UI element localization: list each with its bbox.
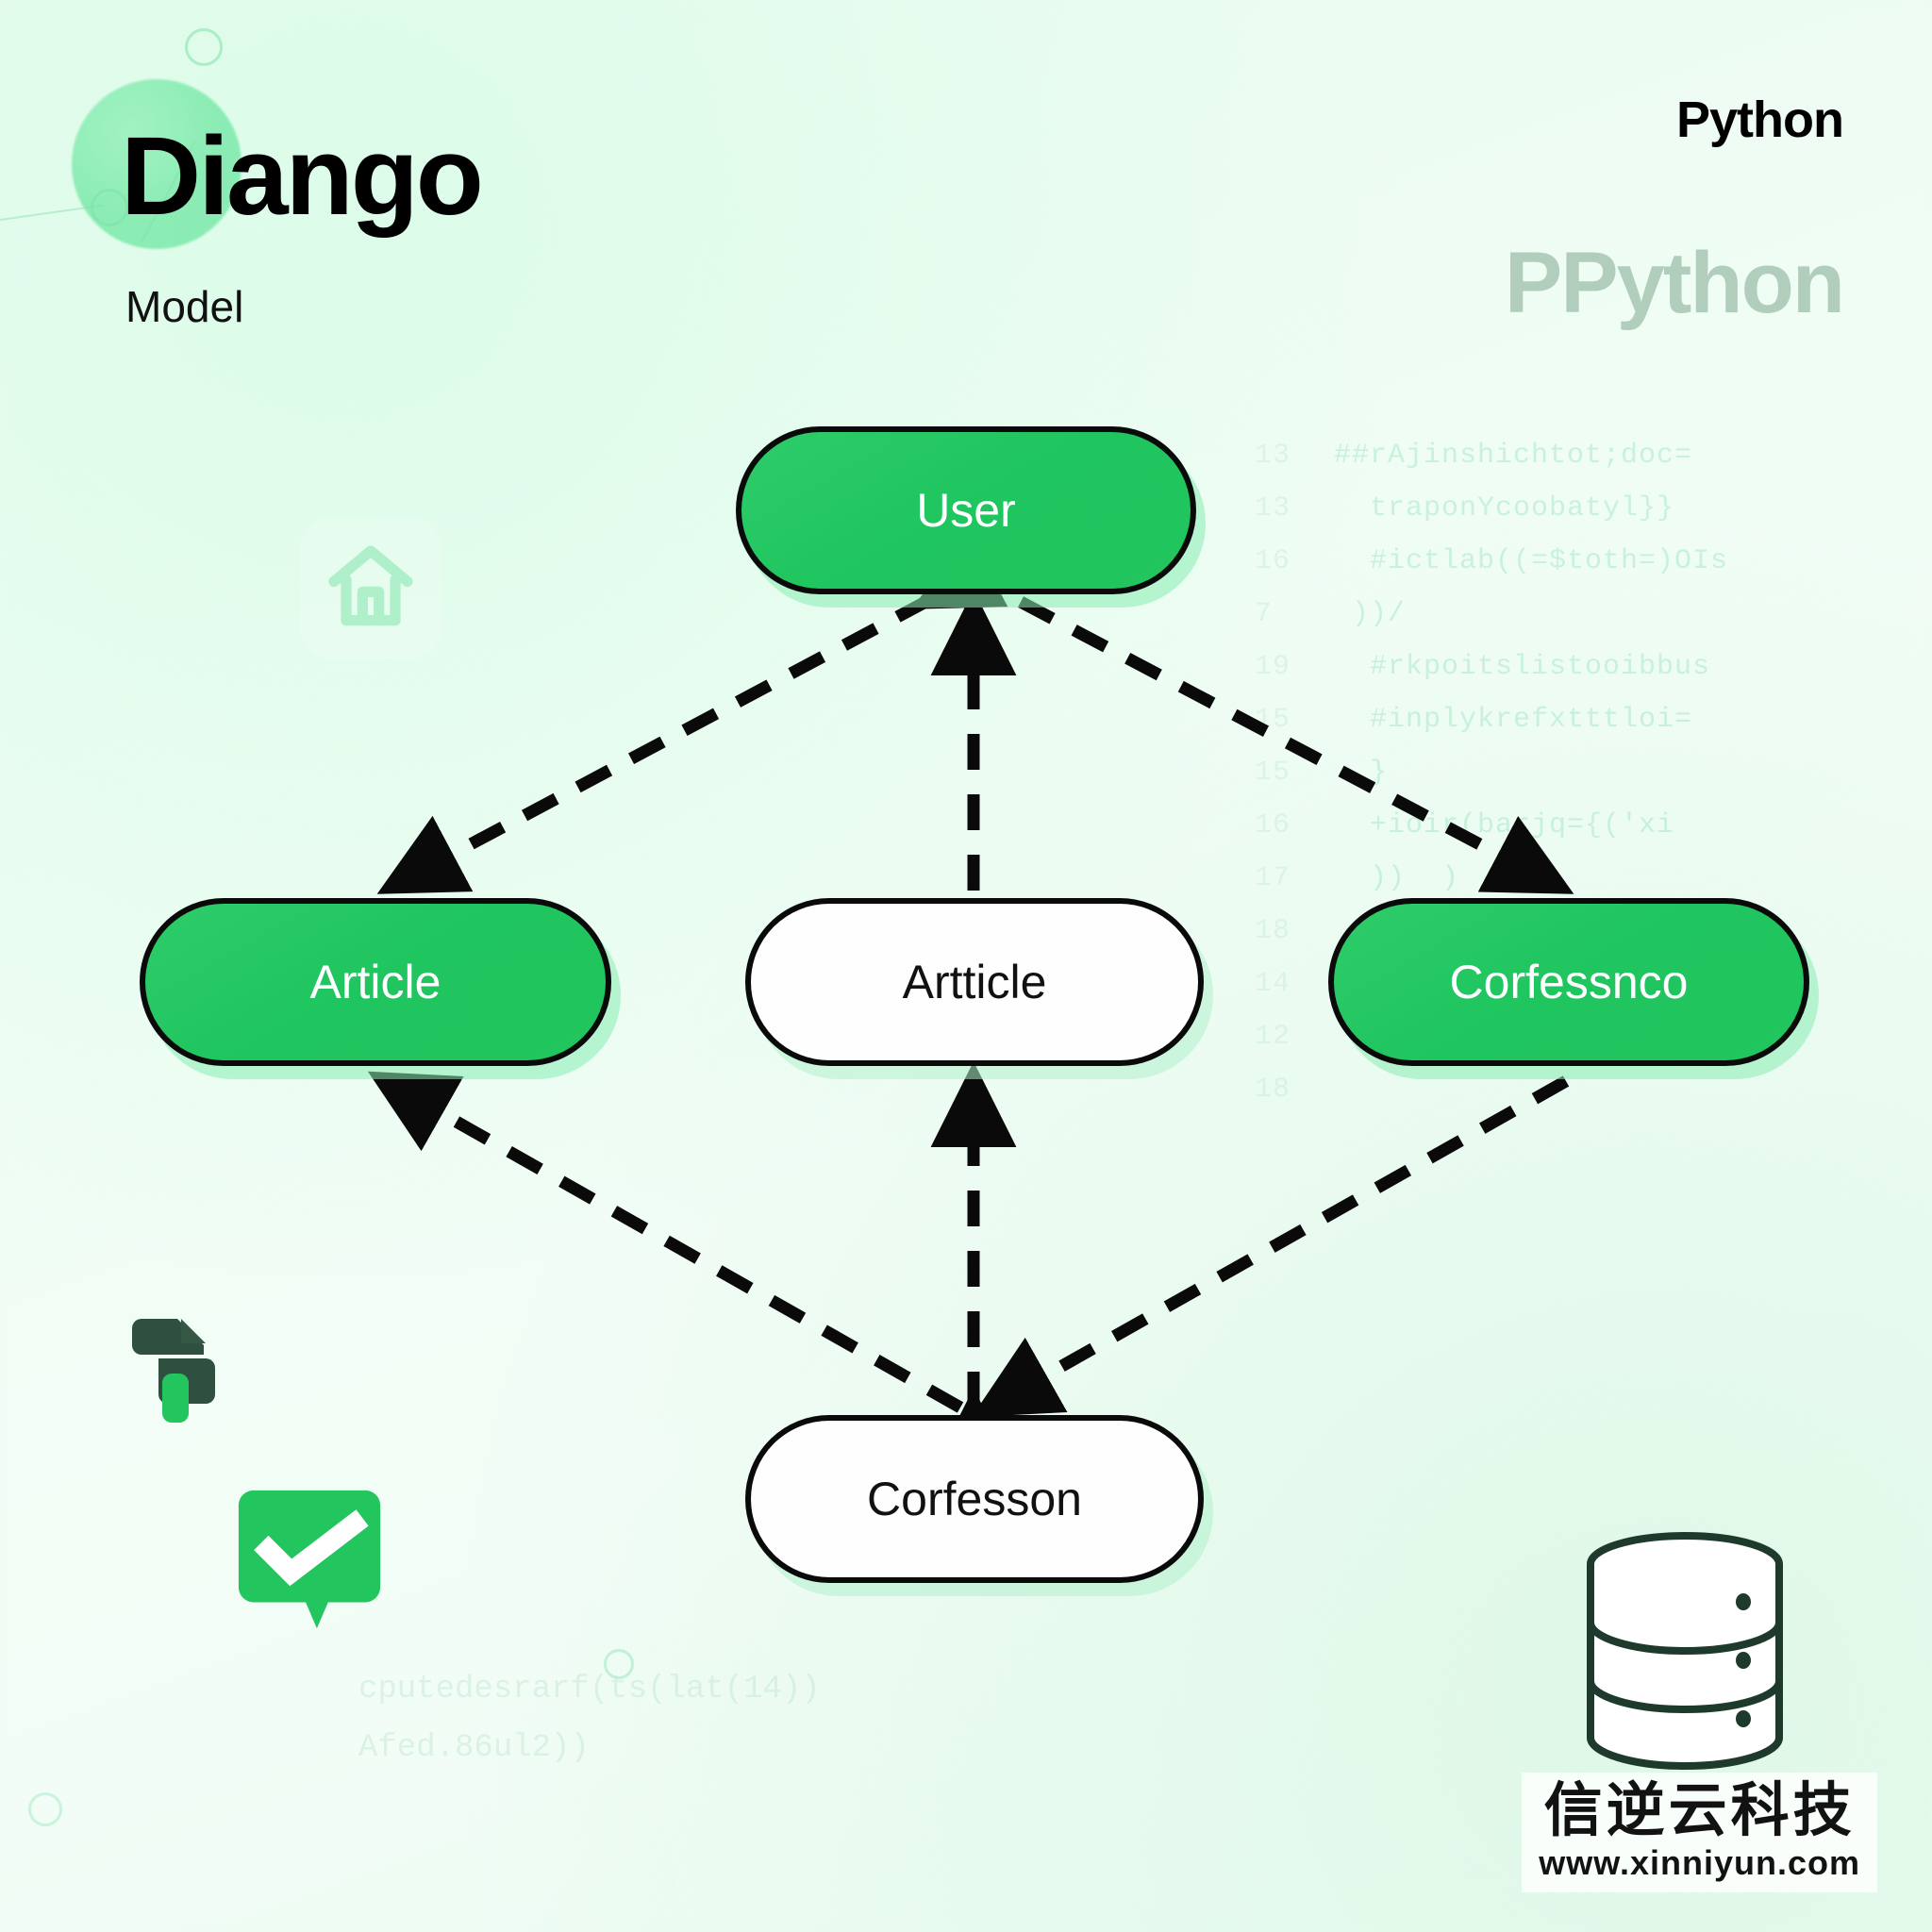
node-artticle-label: Artticle — [903, 955, 1047, 1009]
file-icon — [121, 1309, 241, 1430]
code-line-number: 15 — [1255, 693, 1334, 746]
code-line: 16 #ictlab((=$toth=)OIs — [1255, 535, 1932, 588]
code-line: 15 } — [1255, 746, 1932, 799]
code-line-text: #ictlab((=$toth=)OIs — [1334, 535, 1932, 588]
code-line-number: 15 — [1255, 746, 1334, 799]
code-line: 19 #rkpoitslistooibbus — [1255, 641, 1932, 693]
code-line: 7 ))/ — [1255, 588, 1932, 641]
code-line-number: 12 — [1255, 1010, 1334, 1063]
node-article[interactable]: Article — [140, 898, 611, 1066]
code-line: Afed.86ul2)) — [358, 1719, 1038, 1777]
edge-user-article — [394, 600, 929, 885]
watermark: 信逆云科技 www.xinniyun.com — [1522, 1773, 1877, 1892]
code-line: 18 — [1255, 1063, 1932, 1108]
code-line-text: } — [1334, 746, 1932, 799]
page-title: Diango — [121, 121, 481, 232]
code-line: 15 #inplykrefxtttloi= — [1255, 693, 1932, 746]
code-line-number: 16 — [1255, 535, 1334, 588]
node-corfessnco-label: Corfessnco — [1450, 955, 1689, 1009]
code-line: 16 +ioir(barjq={('xi — [1255, 799, 1932, 852]
watermark-brand: 信逆云科技 — [1539, 1780, 1860, 1841]
code-line-number: 18 — [1255, 905, 1334, 958]
code-line-text: ##rAjinshichtot;doc= — [1334, 429, 1932, 482]
python-label: Python — [1676, 91, 1843, 149]
home-icon — [300, 517, 441, 658]
code-line-text: )) ) — [1334, 852, 1932, 905]
edge-corfesson-article — [385, 1081, 960, 1407]
node-article-label: Article — [310, 955, 441, 1009]
code-line-number: 18 — [1255, 1063, 1334, 1108]
node-corfessnco[interactable]: Corfessnco — [1328, 898, 1809, 1066]
code-line-number: 19 — [1255, 641, 1334, 693]
code-line: 13##rAjinshichtot;doc= — [1255, 429, 1932, 482]
check-badge-icon — [238, 1483, 381, 1636]
code-line-text: #rkpoitslistooibbus — [1334, 641, 1932, 693]
code-line-text: +ioir(barjq={('xi — [1334, 799, 1932, 852]
code-line-text: ))/ — [1334, 588, 1932, 641]
node-user-label: User — [916, 483, 1016, 538]
page-subtitle: Model — [125, 281, 243, 332]
code-line-number: 14 — [1255, 958, 1334, 1010]
code-line-number: 13 — [1255, 482, 1334, 535]
watermark-url: www.xinniyun.com — [1539, 1843, 1860, 1883]
decor-node-circle-1 — [185, 28, 223, 66]
node-corfesson-label: Corfesson — [867, 1472, 1082, 1526]
node-artticle[interactable]: Artticle — [745, 898, 1204, 1066]
code-line: cputedesrarf(ts(lat(14)) — [358, 1660, 1038, 1719]
code-line-number: 17 — [1255, 852, 1334, 905]
node-corfesson[interactable]: Corfesson — [745, 1415, 1204, 1583]
edge-corfessnco-corfesson — [989, 1081, 1566, 1407]
code-line-text — [1334, 1063, 1932, 1108]
code-line-number: 16 — [1255, 799, 1334, 852]
database-icon — [1577, 1528, 1792, 1772]
code-line-text: traponYcoobatyl}} — [1334, 482, 1932, 535]
code-background-bottom: cputedesrarf(ts(lat(14))Afed.86ul2)) — [358, 1660, 1038, 1849]
python-watermark-label: PPython — [1505, 234, 1843, 333]
decor-node-circle-4 — [28, 1792, 62, 1826]
code-line-number: 7 — [1255, 588, 1334, 641]
code-line-text: #inplykrefxtttloi= — [1334, 693, 1932, 746]
diagram-canvas: 13##rAjinshichtot;doc=13 traponYcoobatyl… — [0, 0, 1932, 1932]
node-user[interactable]: User — [736, 426, 1196, 594]
code-line-number: 13 — [1255, 429, 1334, 482]
code-line: 17 )) ) — [1255, 852, 1932, 905]
code-line: 13 traponYcoobatyl}} — [1255, 482, 1932, 535]
